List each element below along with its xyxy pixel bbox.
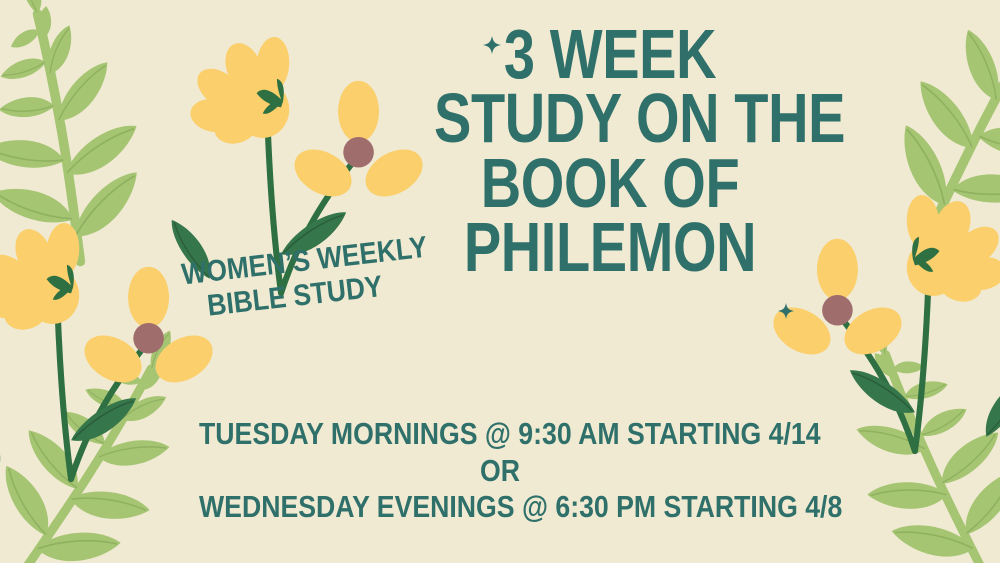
title-line-2: STUDY ON THE <box>434 86 786 150</box>
schedule-block: TUESDAY MORNINGS @ 9:30 AM STARTING 4/14… <box>199 416 801 526</box>
page-title: 3 WEEK STUDY ON THE BOOK OF PHILEMON <box>434 22 786 280</box>
schedule-option-two: WEDNESDAY EVENINGS @ 6:30 PM STARTING 4/… <box>199 489 801 526</box>
title-line-4: PHILEMON <box>434 215 786 279</box>
schedule-option-one: TUESDAY MORNINGS @ 9:30 AM STARTING 4/14 <box>199 416 801 453</box>
poster-canvas: 3 WEEK STUDY ON THE BOOK OF PHILEMON WOM… <box>0 0 1000 563</box>
kicker-heading: WOMEN’S WEEKLY BIBLE STUDY <box>180 234 406 326</box>
title-line-1: 3 WEEK <box>434 22 786 86</box>
title-line-3: BOOK OF <box>434 151 786 215</box>
schedule-separator: OR <box>199 453 801 490</box>
text-layer: 3 WEEK STUDY ON THE BOOK OF PHILEMON WOM… <box>0 0 1000 563</box>
